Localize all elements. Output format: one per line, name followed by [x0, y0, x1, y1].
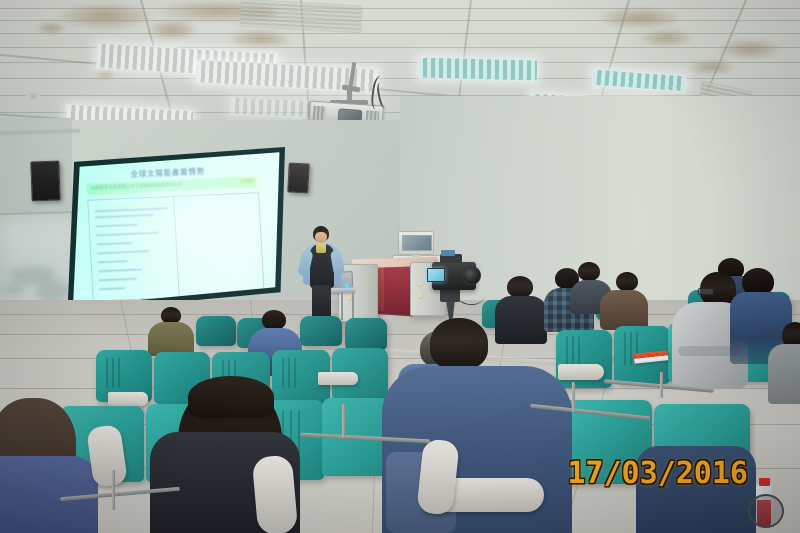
camera-lcd-screen	[427, 268, 445, 282]
slide-table	[87, 192, 264, 301]
chair-leg	[112, 470, 115, 510]
podium-stand	[352, 292, 354, 318]
tablet-arm[interactable]	[108, 392, 148, 406]
ceiling-stain	[60, 3, 150, 29]
bottle-cap	[759, 478, 770, 486]
chair[interactable]	[345, 318, 387, 350]
eyeglasses	[698, 288, 714, 295]
wall-speaker-left	[30, 161, 60, 202]
ceiling-light-fixture	[592, 69, 687, 93]
presenter-lanyard	[316, 243, 326, 253]
ceiling-stain	[720, 40, 780, 58]
screen-surface: 全球太陽能產業情勢 太陽能電池產業鏈上中下游廠商產能與市佔分析 工研院	[63, 147, 285, 312]
ceiling-stain	[96, 70, 116, 79]
lecture-hall-photo: 全球太陽能產業情勢 太陽能電池產業鏈上中下游廠商產能與市佔分析 工研院	[0, 0, 800, 533]
tablet-arm[interactable]	[558, 364, 604, 380]
wall-speaker-right	[287, 162, 310, 193]
ceiling-stain	[230, 30, 290, 48]
ceiling-vent	[239, 0, 362, 33]
laptop-indicator	[345, 284, 348, 287]
chair-leg	[660, 372, 663, 398]
camera-datestamp: 17/03/2016	[567, 456, 748, 491]
podium-stand	[341, 292, 343, 320]
ceiling-sensor	[26, 93, 40, 100]
camera-mic	[441, 250, 455, 256]
ceiling-light-fixture	[418, 56, 539, 81]
ceiling-stain	[690, 60, 734, 74]
ceiling-stain	[36, 22, 66, 34]
chair[interactable]	[300, 316, 342, 346]
projection-screen: 全球太陽能產業情勢 太陽能電池產業鏈上中下游廠商產能與市佔分析 工研院	[63, 147, 285, 312]
tablet-arm[interactable]	[252, 454, 299, 533]
cup-holder	[748, 494, 784, 528]
audience-longhair-crown	[188, 376, 274, 418]
ceiling-stain	[640, 30, 692, 46]
ceiling-stain	[150, 20, 196, 40]
control-monitor	[398, 231, 434, 255]
ceiling-stain	[600, 8, 680, 28]
slide-green-bar-tag: 工研院	[240, 178, 254, 185]
chair-leg	[572, 382, 575, 412]
presenter-face	[315, 232, 327, 243]
tablet-arm[interactable]	[318, 372, 358, 385]
chair[interactable]	[196, 316, 236, 346]
chair-leg	[342, 404, 345, 438]
